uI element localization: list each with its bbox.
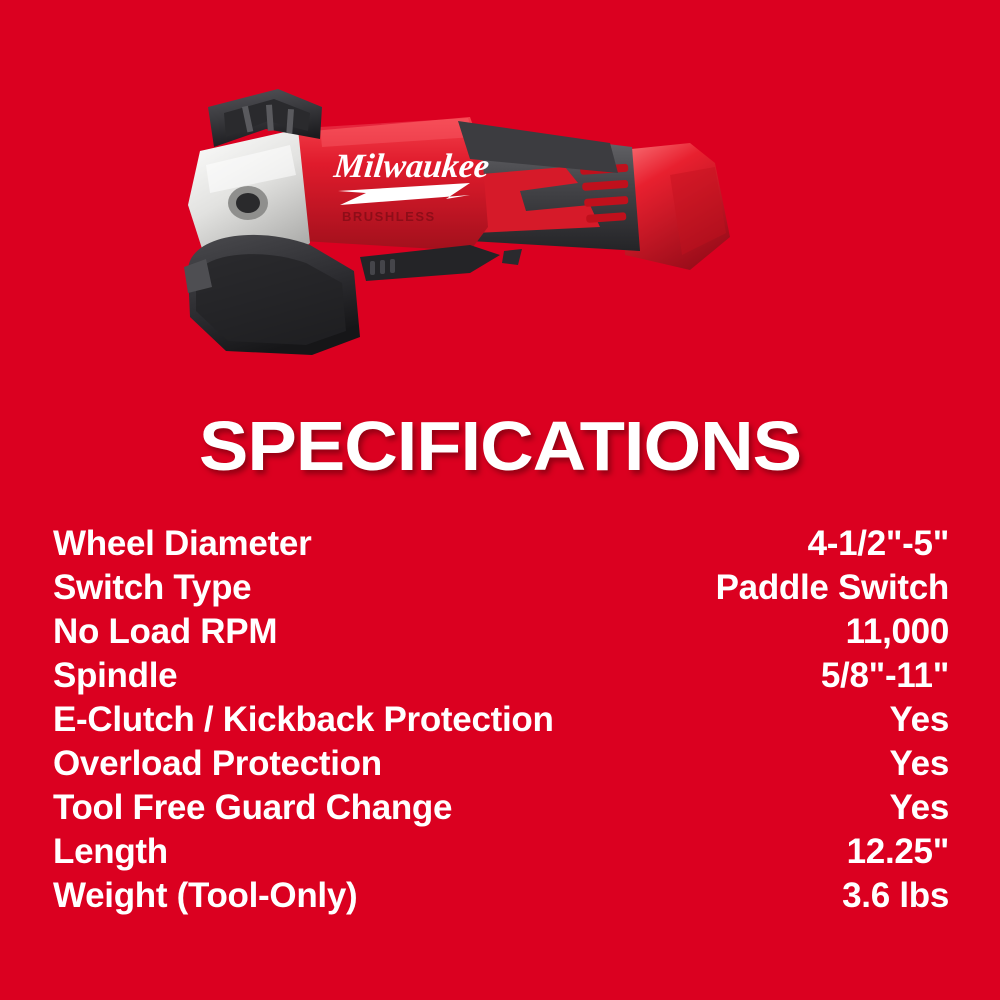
spec-label: Wheel Diameter [53,522,311,566]
lock-tab [502,249,522,265]
spec-value: 11,000 [830,610,949,654]
product-image: Milwaukee BRUSHLESS [0,0,1000,390]
table-row: Tool Free Guard Change Yes [53,786,949,830]
brushless-badge: BRUSHLESS [342,209,436,224]
page-title: SPECIFICATIONS [0,408,1000,484]
spec-label: Length [53,830,168,874]
paddle-grip-lines [370,259,395,275]
spec-label: Overload Protection [53,742,382,786]
table-row: Length 12.25" [53,830,949,874]
spec-value: 12.25" [831,830,949,874]
table-row: E-Clutch / Kickback Protection Yes [53,698,949,742]
table-row: Weight (Tool-Only) 3.6 lbs [53,874,949,918]
spec-value: 5/8"-11" [805,654,949,698]
table-row: Spindle 5/8"-11" [53,654,949,698]
table-row: Wheel Diameter 4-1/2"-5" [53,522,949,566]
table-row: No Load RPM 11,000 [53,610,949,654]
table-row: Switch Type Paddle Switch [53,566,949,610]
spec-sheet-page: Milwaukee BRUSHLESS SPECIFICATIONS Wheel… [0,0,1000,1000]
side-handle-port [228,186,268,220]
spec-label: E-Clutch / Kickback Protection [53,698,554,742]
spec-value: 4-1/2"-5" [792,522,949,566]
angle-grinder-illustration: Milwaukee BRUSHLESS [170,55,850,375]
spec-label: No Load RPM [53,610,277,654]
spec-label: Switch Type [53,566,251,610]
spec-value: Paddle Switch [700,566,949,610]
spec-value: Yes [874,742,949,786]
spec-value: 3.6 lbs [826,874,949,918]
spec-label: Tool Free Guard Change [53,786,452,830]
spec-value: Yes [874,698,949,742]
spec-label: Weight (Tool-Only) [53,874,357,918]
spec-value: Yes [874,786,949,830]
specifications-table: Wheel Diameter 4-1/2"-5" Switch Type Pad… [53,522,949,918]
table-row: Overload Protection Yes [53,742,949,786]
spec-label: Spindle [53,654,177,698]
svg-text:Milwaukee: Milwaukee [331,148,491,185]
